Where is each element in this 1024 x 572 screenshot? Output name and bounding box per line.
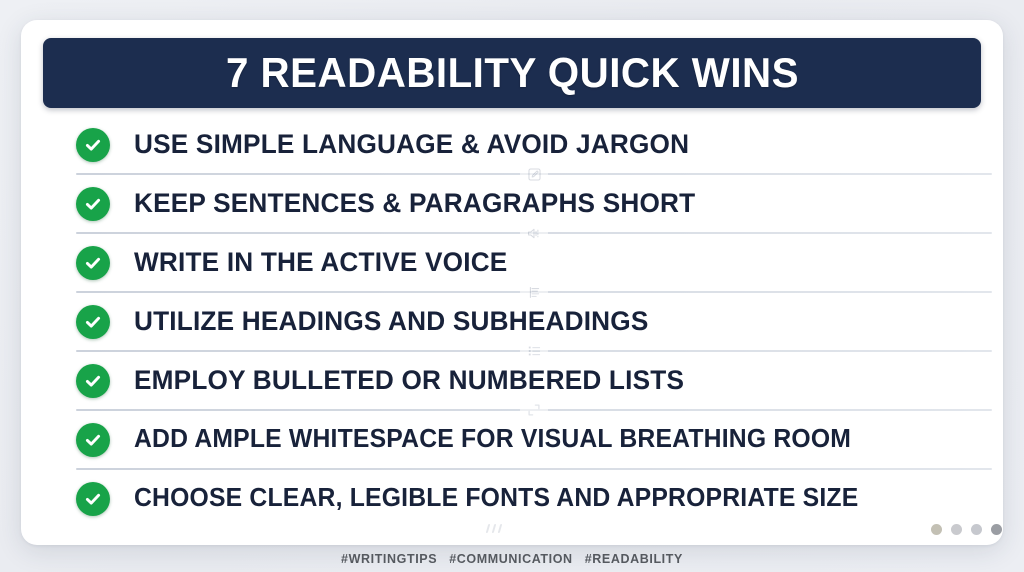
row-divider — [76, 464, 992, 474]
expand-corners-icon — [520, 400, 548, 420]
page-title: 7 READABILITY QUICK WINS — [225, 49, 798, 97]
row-divider — [76, 405, 992, 415]
list-item[interactable]: UTILIZE HEADINGS AND SUBHEADINGS — [54, 297, 994, 346]
row-divider — [76, 169, 992, 179]
list-item-label: UTILIZE HEADINGS AND SUBHEADINGS — [134, 306, 649, 337]
check-circle-icon — [76, 482, 110, 516]
check-circle-icon — [76, 423, 110, 457]
pencil-edit-icon — [520, 164, 548, 184]
list-item[interactable]: USE SIMPLE LANGUAGE & AVOID JARGON — [54, 120, 994, 169]
slide-card: 7 READABILITY QUICK WINS USE SIMPLE LANG… — [21, 20, 1003, 545]
list-item-label: EMPLOY BULLETED OR NUMBERED LISTS — [134, 365, 684, 396]
list-item[interactable]: CHOOSE CLEAR, LEGIBLE FONTS AND APPROPRI… — [54, 474, 994, 523]
dot-indicator-1[interactable] — [931, 524, 942, 535]
dot-indicator-4[interactable] — [991, 524, 1002, 535]
bulleted-list-icon — [520, 341, 548, 361]
list-item-label: USE SIMPLE LANGUAGE & AVOID JARGON — [134, 129, 689, 160]
check-circle-icon — [76, 128, 110, 162]
check-circle-icon — [76, 364, 110, 398]
divider-line — [76, 468, 992, 470]
row-divider — [76, 228, 992, 238]
hashtag-footer: #WRITINGTIPS #COMMUNICATION #READABILITY — [0, 552, 1024, 566]
dot-indicator-2[interactable] — [951, 524, 962, 535]
list-item[interactable]: ADD AMPLE WHITESPACE FOR VISUAL BREATHIN… — [54, 415, 994, 464]
list-item[interactable]: WRITE IN THE ACTIVE VOICE — [54, 238, 994, 287]
dot-indicator-3[interactable] — [971, 524, 982, 535]
hashtag-communication: #COMMUNICATION — [449, 552, 572, 566]
list-item-label: ADD AMPLE WHITESPACE FOR VISUAL BREATHIN… — [134, 425, 851, 454]
title-banner: 7 READABILITY QUICK WINS — [43, 38, 981, 108]
tips-list: USE SIMPLE LANGUAGE & AVOID JARGON KEEP … — [54, 120, 994, 523]
check-circle-icon — [76, 246, 110, 280]
check-circle-icon — [76, 187, 110, 221]
hashtag-writingtips: #WRITINGTIPS — [341, 552, 437, 566]
speaker-volume-icon — [520, 223, 548, 243]
row-divider — [76, 346, 992, 356]
hashtag-readability: #READABILITY — [585, 552, 683, 566]
row-divider — [76, 287, 992, 297]
list-item[interactable]: EMPLOY BULLETED OR NUMBERED LISTS — [54, 356, 994, 405]
tick-mark — [486, 524, 491, 533]
list-item-label: KEEP SENTENCES & PARAGRAPHS SHORT — [134, 188, 695, 219]
list-item[interactable]: KEEP SENTENCES & PARAGRAPHS SHORT — [54, 179, 994, 228]
document-heading-icon — [520, 282, 548, 302]
tick-mark — [492, 524, 497, 533]
footer-tick-marks — [487, 524, 501, 533]
dot-indicators[interactable] — [931, 524, 1002, 535]
list-item-label: CHOOSE CLEAR, LEGIBLE FONTS AND APPROPRI… — [134, 484, 858, 513]
list-item-label: WRITE IN THE ACTIVE VOICE — [134, 247, 507, 278]
check-circle-icon — [76, 305, 110, 339]
